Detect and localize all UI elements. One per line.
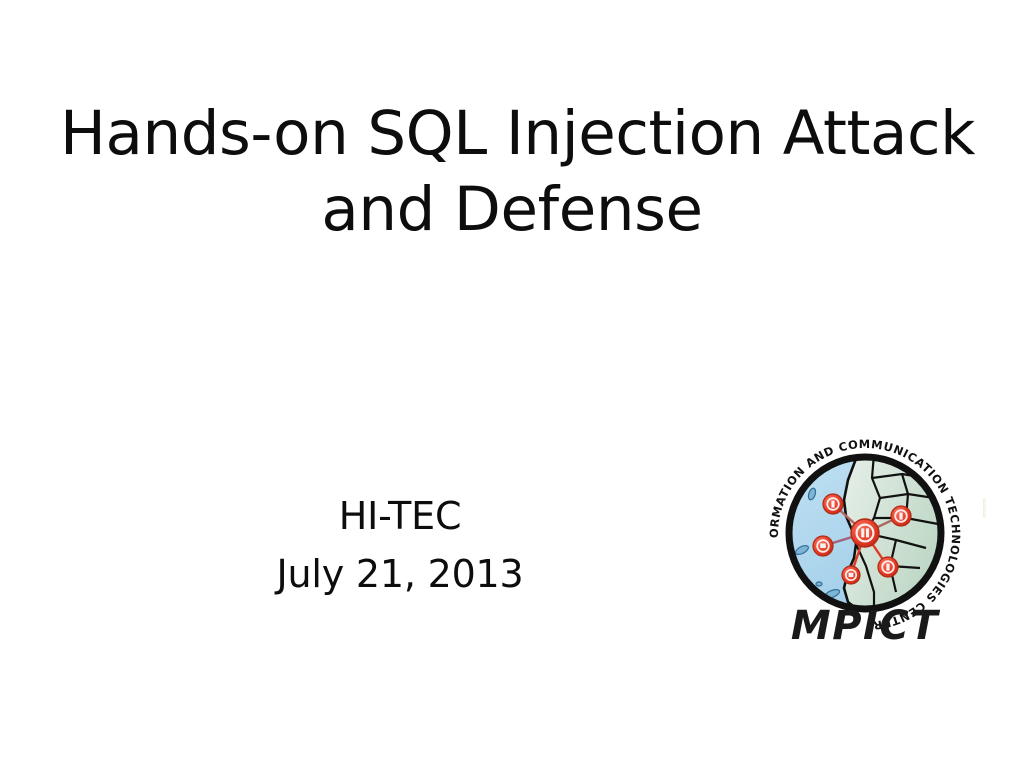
subtitle-event: HI-TEC <box>150 487 650 545</box>
network-node-se <box>878 557 898 577</box>
title-line-2: and Defense <box>60 172 964 248</box>
network-node-w <box>813 536 833 556</box>
slide-title: Hands-on SQL Injection Attack and Defens… <box>60 96 964 248</box>
network-node-nw <box>823 494 843 514</box>
network-node-e <box>891 506 911 526</box>
edge-artifact <box>983 498 987 518</box>
mpict-logo-graphic: MID-PACIFIC INFORMATION AND COMMUNICATIO… <box>762 432 968 656</box>
slide-canvas: Hands-on SQL Injection Attack and Defens… <box>0 0 1024 768</box>
slide-subtitle: HI-TEC July 21, 2013 <box>150 487 650 603</box>
subtitle-date: July 21, 2013 <box>150 545 650 603</box>
network-node-hub <box>851 519 879 547</box>
title-line-1: Hands-on SQL Injection Attack <box>60 96 964 172</box>
mpict-wordmark: MPICT <box>791 603 940 649</box>
mpict-logo: MID-PACIFIC INFORMATION AND COMMUNICATIO… <box>762 432 968 656</box>
network-node-s <box>842 566 860 584</box>
